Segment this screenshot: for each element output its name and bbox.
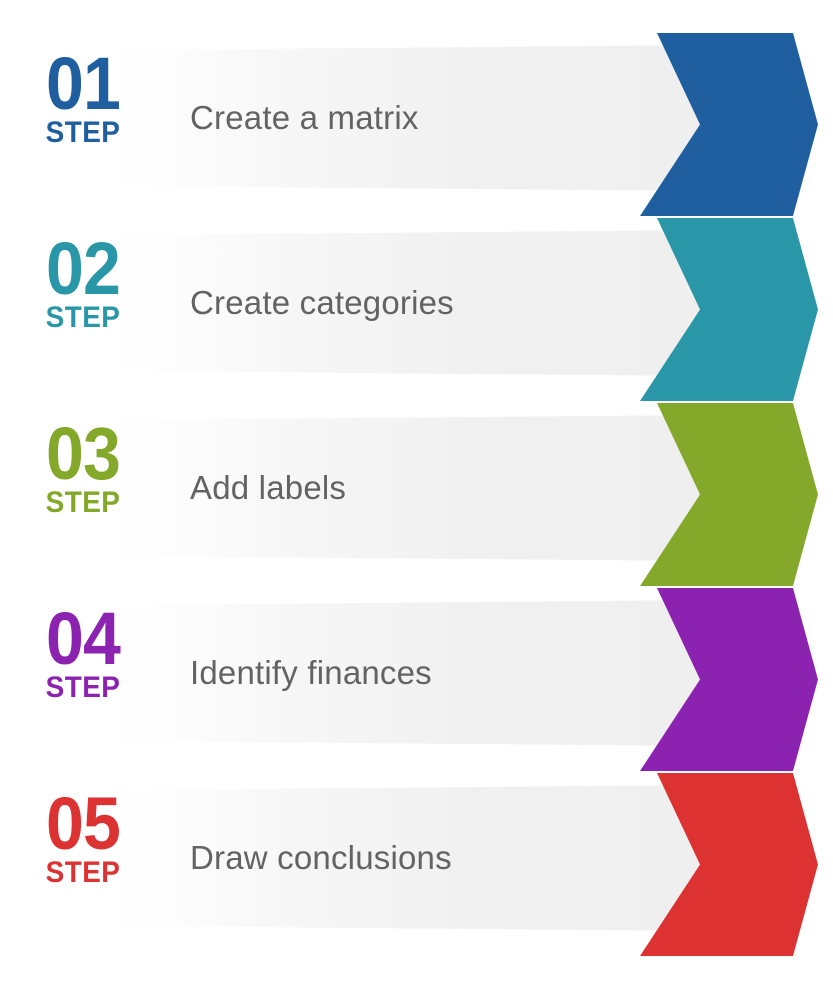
step-number: 04 <box>27 607 139 671</box>
step-row: 05STEPDraw conclusions <box>0 765 833 950</box>
step-row: 02STEPCreate categories <box>0 210 833 395</box>
step-label: Create a matrix <box>190 25 419 210</box>
step-arrow-icon <box>636 218 818 401</box>
step-row: 04STEPIdentify finances <box>0 580 833 765</box>
step-number: 02 <box>27 237 139 301</box>
step-word: STEP <box>26 858 139 888</box>
step-word: STEP <box>26 118 139 148</box>
step-label: Draw conclusions <box>190 765 452 950</box>
step-word: STEP <box>26 673 139 703</box>
step-number-block: 02STEP <box>22 237 144 367</box>
step-number: 05 <box>27 792 139 856</box>
step-arrow-icon <box>636 403 818 586</box>
step-arrow-icon <box>636 588 818 771</box>
step-number-block: 01STEP <box>22 52 144 182</box>
step-number-block: 03STEP <box>22 422 144 552</box>
step-number: 03 <box>27 422 139 486</box>
step-arrow-icon <box>636 773 818 956</box>
step-arrow-icon <box>636 33 818 216</box>
step-number: 01 <box>27 52 139 116</box>
step-label: Identify finances <box>190 580 432 765</box>
step-word: STEP <box>26 303 139 333</box>
step-row: 03STEPAdd labels <box>0 395 833 580</box>
step-word: STEP <box>26 488 139 518</box>
step-label: Add labels <box>190 395 346 580</box>
steps-infographic: 01STEPCreate a matrix02STEPCreate catego… <box>0 0 833 982</box>
step-row: 01STEPCreate a matrix <box>0 25 833 210</box>
step-number-block: 05STEP <box>22 792 144 922</box>
step-number-block: 04STEP <box>22 607 144 737</box>
step-label: Create categories <box>190 210 454 395</box>
